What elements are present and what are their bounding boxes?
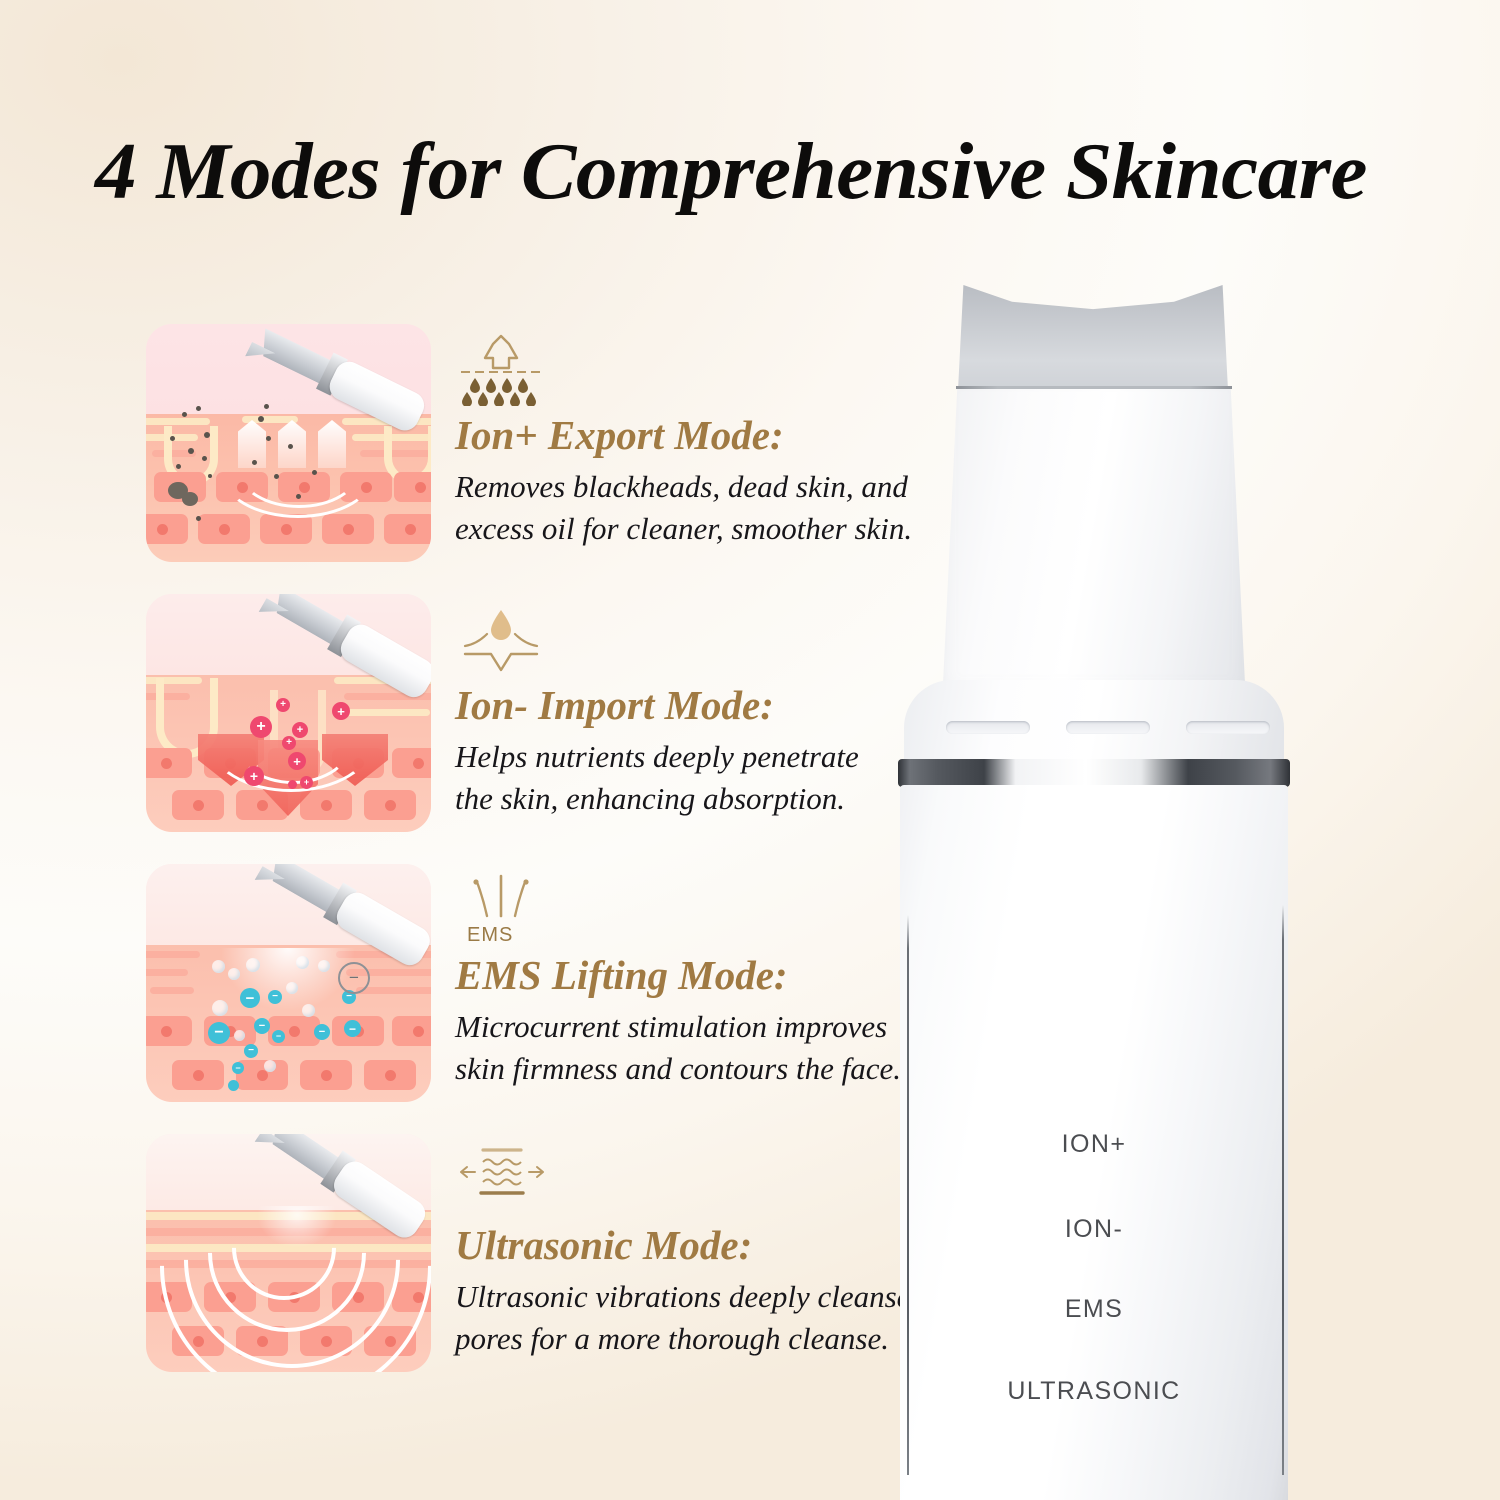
mode-row-ion-plus-export: Ion+ Export Mode: Removes blackheads, de… [0, 318, 930, 576]
ems-pulse-icon: EMS [455, 872, 547, 946]
mode-row-ems-lifting: − − − − − − − − − − − [0, 858, 930, 1116]
mode-row-ultrasonic: Ultrasonic Mode: Ultrasonic vibrations d… [0, 1128, 930, 1386]
device-neck [942, 389, 1246, 705]
device-vent-slot [1186, 721, 1270, 734]
device-metal-spatula-head [958, 285, 1228, 390]
export-arrow-droplets-icon [455, 332, 547, 406]
device-head-seam [956, 386, 1232, 389]
device-mode-label-ems: EMS [880, 1295, 1308, 1324]
mode-description-line1: Removes blackheads, dead skin, and [455, 466, 925, 508]
mode-description-line1: Ultrasonic vibrations deeply cleanse [455, 1276, 925, 1318]
device-mode-label-ion-plus: ION+ [880, 1130, 1308, 1159]
droplet-down-arrow-icon [455, 602, 547, 676]
mode-description-line2: pores for a more thorough cleanse. [455, 1318, 925, 1360]
page-title: 4 Modes for Comprehensive Skincare [95, 132, 1478, 212]
ems-icon-label: EMS [467, 924, 513, 947]
mode-description: Microcurrent stimulation improves skin f… [455, 1006, 925, 1089]
mode-description-line2: excess oil for cleaner, smoother skin. [455, 508, 925, 550]
ultrasonic-wave-arrows-icon [455, 1142, 547, 1216]
device-mode-label-ion-minus: ION- [880, 1215, 1308, 1244]
mode-heading: EMS Lifting Mode: [455, 954, 925, 997]
mode-description-line1: Microcurrent stimulation improves [455, 1006, 925, 1048]
mode-heading: Ion- Import Mode: [455, 684, 925, 727]
mode-description: Helps nutrients deeply penetrate the ski… [455, 736, 925, 819]
device-chrome-band [898, 759, 1290, 787]
mode-description-line1: Helps nutrients deeply penetrate [455, 736, 925, 778]
mode-row-ion-minus-import: + + + + + + + + [0, 588, 930, 846]
mode-description: Ultrasonic vibrations deeply cleanse por… [455, 1276, 925, 1359]
thumbnail-ems-lifting: − − − − − − − − − − − [146, 864, 431, 1102]
mode-heading: Ultrasonic Mode: [455, 1224, 925, 1267]
mode-heading: Ion+ Export Mode: [455, 414, 925, 457]
mode-description-line2: the skin, enhancing absorption. [455, 778, 925, 820]
thumbnail-ion-minus-import: + + + + + + + + [146, 594, 431, 832]
device-vent-slot [946, 721, 1030, 734]
thumbnail-ion-plus-export [146, 324, 431, 562]
mode-description-line2: skin firmness and contours the face. [455, 1048, 925, 1090]
infographic-canvas: 4 Modes for Comprehensive Skincare [0, 0, 1500, 1500]
device-image: ION+ ION- EMS ULTRASONIC [880, 285, 1380, 1500]
mode-description: Removes blackheads, dead skin, and exces… [455, 466, 925, 549]
thumbnail-ultrasonic [146, 1134, 431, 1372]
device-vent-slot [1066, 721, 1150, 734]
device-mode-label-ultrasonic: ULTRASONIC [880, 1377, 1308, 1406]
